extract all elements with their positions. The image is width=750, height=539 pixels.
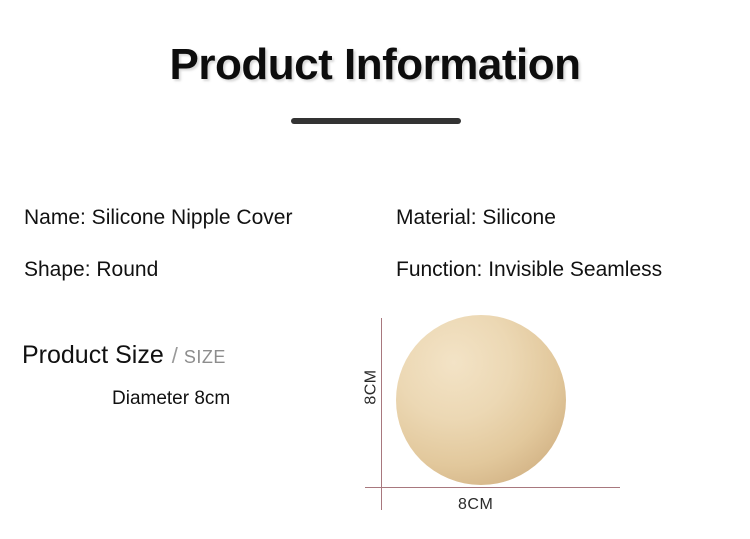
size-heading-sub: SIZE (184, 347, 226, 368)
vertical-axis-line (381, 318, 382, 510)
size-detail-diameter: Diameter 8cm (112, 388, 230, 410)
title-divider (291, 118, 461, 124)
product-disc-shape (396, 315, 566, 485)
spec-shape: Shape: Round (24, 244, 384, 296)
dimension-diagram: 8CM 8CM (340, 300, 640, 525)
spec-name: Name: Silicone Nipple Cover (24, 192, 384, 244)
horizontal-axis-line (365, 487, 620, 488)
size-heading-main: Product Size (22, 341, 164, 370)
spec-function: Function: Invisible Seamless (396, 244, 746, 296)
size-section-heading: Product Size / SIZE (22, 341, 226, 370)
product-information-graphic: Product Information Name: Silicone Nippl… (0, 0, 750, 539)
size-heading-separator: / (172, 343, 178, 369)
diagram-height-label: 8CM (363, 369, 381, 404)
spec-column-right: Material: Silicone Function: Invisible S… (396, 192, 746, 296)
page-title: Product Information (0, 40, 750, 90)
spec-material: Material: Silicone (396, 192, 746, 244)
diagram-width-label: 8CM (458, 496, 493, 514)
spec-column-left: Name: Silicone Nipple Cover Shape: Round (24, 192, 384, 296)
